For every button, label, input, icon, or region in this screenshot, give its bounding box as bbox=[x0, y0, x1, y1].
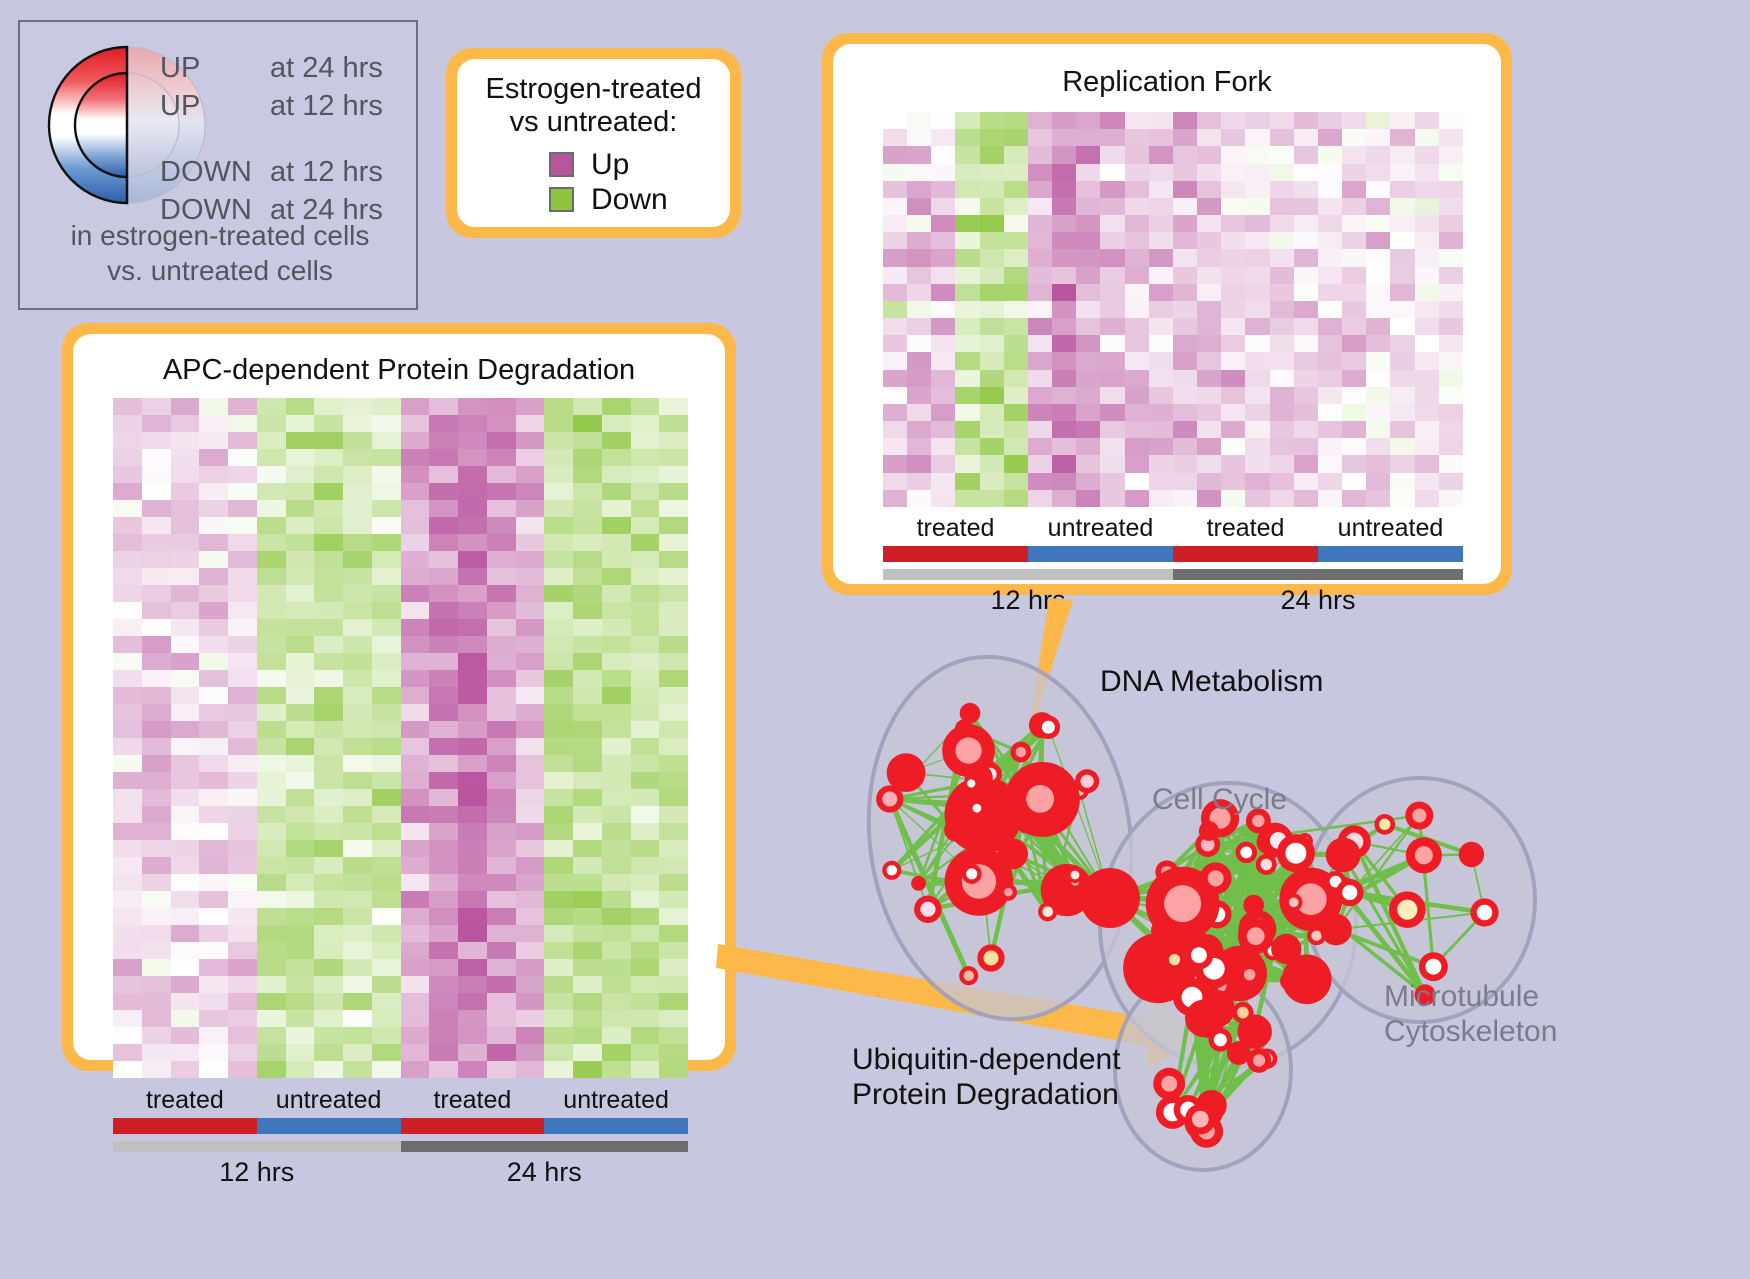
heatmap-cell bbox=[171, 619, 200, 636]
heatmap-cell bbox=[1052, 181, 1076, 198]
heatmap-cell bbox=[1390, 198, 1414, 215]
network-node bbox=[1146, 867, 1220, 941]
heatmap-cell bbox=[429, 840, 458, 857]
network-edge bbox=[1174, 904, 1182, 960]
heatmap-cell bbox=[142, 449, 171, 466]
network-edge bbox=[1192, 845, 1208, 938]
heatmap-cell bbox=[314, 1044, 343, 1061]
network-edge bbox=[983, 815, 1012, 854]
heatmap-cell bbox=[401, 636, 430, 653]
heatmap-cell bbox=[631, 1044, 660, 1061]
heatmap-cell bbox=[1415, 318, 1439, 335]
heatmap-cell bbox=[631, 891, 660, 908]
heatmap-cell bbox=[1221, 146, 1245, 163]
network-node bbox=[1336, 879, 1363, 906]
heatmap-cell bbox=[1076, 267, 1100, 284]
heatmap-cell bbox=[1342, 404, 1366, 421]
network-edge bbox=[1336, 893, 1350, 930]
heatmap-cell bbox=[1125, 198, 1149, 215]
heatmap-cell bbox=[1318, 421, 1342, 438]
heatmap-cell bbox=[1342, 387, 1366, 404]
heatmap-cell bbox=[602, 500, 631, 517]
heatmap-cell bbox=[314, 415, 343, 432]
heatmap-cell bbox=[1076, 301, 1100, 318]
network-node bbox=[997, 839, 1028, 870]
heatmap-cell bbox=[429, 925, 458, 942]
group-bar-treated-24 bbox=[1173, 546, 1318, 562]
heatmap-cell bbox=[314, 653, 343, 670]
network-edge bbox=[1183, 904, 1199, 955]
heatmap-cell bbox=[907, 249, 931, 266]
heatmap-cell bbox=[1076, 455, 1100, 472]
heatmap-cell bbox=[429, 483, 458, 500]
network-node bbox=[990, 817, 1011, 838]
heatmap-cell bbox=[883, 455, 907, 472]
network-edge bbox=[1208, 845, 1273, 952]
heatmap-cell bbox=[931, 284, 955, 301]
network-node-core bbox=[1071, 871, 1080, 880]
heatmap-cell bbox=[257, 687, 286, 704]
heatmap-cell bbox=[429, 1027, 458, 1044]
heatmap-cell bbox=[602, 874, 631, 891]
network-node bbox=[1199, 821, 1219, 841]
heatmap-cell bbox=[429, 653, 458, 670]
network-edge bbox=[1218, 914, 1258, 929]
network-edge bbox=[1167, 864, 1266, 871]
network-edge bbox=[1336, 882, 1408, 910]
heatmap-cell bbox=[883, 215, 907, 232]
network-node bbox=[1005, 762, 1080, 837]
heatmap-cell bbox=[314, 976, 343, 993]
heatmap-cell bbox=[286, 517, 315, 534]
heatmap-cell bbox=[1318, 473, 1342, 490]
heatmap-cell bbox=[931, 352, 955, 369]
heatmap-cell bbox=[1270, 352, 1294, 369]
network-node bbox=[1263, 825, 1294, 856]
heatmap-cell bbox=[1052, 301, 1076, 318]
network-edge bbox=[1219, 899, 1311, 985]
heatmap-cell bbox=[602, 466, 631, 483]
heatmap-cell bbox=[1100, 215, 1124, 232]
heatmap-cell bbox=[1052, 421, 1076, 438]
heatmap-cell bbox=[429, 398, 458, 415]
heatmap-cell bbox=[955, 421, 979, 438]
heatmap-cell bbox=[142, 636, 171, 653]
heatmap-cell bbox=[573, 857, 602, 874]
heatmap-cell bbox=[1270, 318, 1294, 335]
apc-degradation-panel: APC-dependent Protein Degradation treate… bbox=[62, 323, 736, 1071]
network-node bbox=[959, 966, 978, 985]
heatmap-cell bbox=[1173, 146, 1197, 163]
network-node bbox=[1212, 953, 1229, 970]
heatmap-cell bbox=[1245, 318, 1269, 335]
network-edge bbox=[1243, 1013, 1255, 1032]
network-edge bbox=[979, 881, 1009, 892]
heatmap-cell bbox=[1439, 232, 1463, 249]
network-edge bbox=[1246, 852, 1306, 979]
heatmap-cell bbox=[544, 670, 573, 687]
heatmap-cell bbox=[1028, 370, 1052, 387]
network-edge bbox=[1110, 898, 1174, 960]
heatmap-cell bbox=[1052, 232, 1076, 249]
network-edge bbox=[1258, 821, 1306, 979]
heatmap-cell bbox=[372, 772, 401, 789]
heatmap-cell bbox=[1415, 421, 1439, 438]
heatmap-cell bbox=[907, 352, 931, 369]
network-node bbox=[1195, 832, 1220, 857]
heatmap-cell bbox=[659, 483, 688, 500]
heatmap-cell bbox=[314, 772, 343, 789]
heatmap-cell bbox=[631, 874, 660, 891]
heatmap-cell bbox=[199, 704, 228, 721]
heatmap-cell bbox=[372, 925, 401, 942]
heatmap-cell bbox=[1173, 267, 1197, 284]
heatmap-cell bbox=[372, 806, 401, 823]
group-name: untreated bbox=[1318, 514, 1463, 543]
network-edge bbox=[890, 799, 972, 874]
heatmap-cell bbox=[401, 449, 430, 466]
heatmap-cell bbox=[659, 942, 688, 959]
network-edge bbox=[1202, 975, 1249, 1123]
heatmap-cell bbox=[631, 857, 660, 874]
network-node bbox=[1067, 867, 1083, 883]
heatmap-cell bbox=[199, 432, 228, 449]
network-node-core bbox=[1315, 893, 1329, 907]
network-node bbox=[1209, 1028, 1233, 1052]
heatmap-cell bbox=[516, 772, 545, 789]
network-edge bbox=[1203, 855, 1423, 980]
heatmap-cell bbox=[113, 670, 142, 687]
network-edge bbox=[1206, 905, 1254, 951]
heatmap-cell bbox=[544, 823, 573, 840]
heatmap-cell bbox=[1197, 490, 1221, 507]
heatmap-cell bbox=[955, 352, 979, 369]
heatmap-cell bbox=[573, 823, 602, 840]
heatmap-cell bbox=[631, 806, 660, 823]
heatmap-cell bbox=[516, 466, 545, 483]
heatmap-cell bbox=[516, 619, 545, 636]
heatmap-cell bbox=[487, 840, 516, 857]
heatmap-cell bbox=[1028, 146, 1052, 163]
heatmap-cell bbox=[1028, 421, 1052, 438]
heatmap-cell bbox=[199, 483, 228, 500]
heatmap-cell bbox=[372, 500, 401, 517]
heatmap-cell bbox=[602, 857, 631, 874]
network-edge bbox=[1000, 828, 1008, 892]
heatmap-cell bbox=[199, 1044, 228, 1061]
heatmap-cell bbox=[142, 976, 171, 993]
heatmap-cell bbox=[631, 993, 660, 1010]
heatmap-cell bbox=[228, 602, 257, 619]
network-edge bbox=[1192, 937, 1286, 949]
heatmap-cell bbox=[228, 1044, 257, 1061]
heatmap-cell bbox=[1415, 112, 1439, 129]
network-edge bbox=[1209, 831, 1221, 961]
heatmap-cell bbox=[171, 517, 200, 534]
network-node bbox=[1151, 921, 1169, 939]
network-node bbox=[1155, 860, 1178, 883]
network-node bbox=[1187, 964, 1221, 998]
heatmap-cell bbox=[142, 466, 171, 483]
heatmap-cell bbox=[907, 421, 931, 438]
heatmap-cell bbox=[458, 1061, 487, 1078]
heatmap-cell bbox=[1270, 215, 1294, 232]
network-node bbox=[1029, 712, 1055, 738]
heatmap-cell bbox=[343, 415, 372, 432]
network-edge bbox=[969, 751, 991, 958]
heatmap-cell bbox=[544, 1061, 573, 1078]
network-node-core bbox=[1080, 775, 1093, 788]
heatmap-cell bbox=[516, 432, 545, 449]
heatmap-cell bbox=[659, 500, 688, 517]
network-edge bbox=[1221, 951, 1273, 961]
network-node-core bbox=[1214, 1033, 1227, 1046]
heatmap-cell bbox=[516, 398, 545, 415]
heatmap-cell bbox=[343, 585, 372, 602]
heatmap-cell bbox=[401, 1061, 430, 1078]
heatmap-cell bbox=[199, 1027, 228, 1044]
heatmap-cell bbox=[343, 1061, 372, 1078]
network-node-core bbox=[887, 865, 897, 875]
heatmap-cell bbox=[171, 670, 200, 687]
network-node bbox=[887, 753, 926, 792]
heatmap-cell bbox=[458, 959, 487, 976]
network-edge bbox=[1040, 799, 1048, 912]
heatmap-cell bbox=[113, 551, 142, 568]
heatmap-cell bbox=[257, 1027, 286, 1044]
time-label: 12 hrs bbox=[883, 585, 1173, 616]
heatmap-cell bbox=[1197, 438, 1221, 455]
heatmap-cell bbox=[314, 840, 343, 857]
heatmap-cell bbox=[1052, 352, 1076, 369]
network-edge bbox=[1000, 799, 1040, 828]
network-node bbox=[1326, 838, 1361, 873]
network-edge bbox=[1163, 913, 1199, 955]
network-node-core bbox=[962, 864, 996, 898]
heatmap-cell bbox=[1270, 164, 1294, 181]
heatmap-cell bbox=[544, 619, 573, 636]
heatmap-cell bbox=[1028, 404, 1052, 421]
heatmap-cell bbox=[429, 670, 458, 687]
heatmap-cell bbox=[257, 806, 286, 823]
heatmap-cell bbox=[1439, 215, 1463, 232]
heatmap-cell bbox=[171, 976, 200, 993]
heatmap-cell bbox=[1270, 301, 1294, 318]
network-edge bbox=[1192, 937, 1206, 951]
heatmap-cell bbox=[602, 942, 631, 959]
network-edge bbox=[1209, 831, 1311, 899]
heatmap-cell bbox=[171, 823, 200, 840]
network-node-core bbox=[1244, 969, 1255, 980]
heatmap-cell bbox=[142, 891, 171, 908]
heatmap-cell bbox=[286, 1027, 315, 1044]
heatmap-cell bbox=[659, 687, 688, 704]
heatmap-cell bbox=[458, 653, 487, 670]
heatmap-cell bbox=[602, 670, 631, 687]
network-node bbox=[1277, 834, 1315, 872]
network-node bbox=[1232, 1002, 1253, 1023]
heatmap-cell bbox=[1149, 284, 1173, 301]
heatmap-cell bbox=[1028, 387, 1052, 404]
heatmap-cell bbox=[883, 112, 907, 129]
heatmap-cell bbox=[659, 789, 688, 806]
cluster-label-cell-cycle: Cell Cycle bbox=[1152, 783, 1287, 818]
heatmap-cell bbox=[659, 874, 688, 891]
network-edge bbox=[983, 815, 1026, 822]
heatmap-cell bbox=[142, 704, 171, 721]
heatmap-cell bbox=[487, 874, 516, 891]
network-edge bbox=[1343, 824, 1385, 855]
heatmap-cell bbox=[199, 687, 228, 704]
heatmap-cell bbox=[113, 653, 142, 670]
heatmap-cell bbox=[980, 301, 1004, 318]
heatmap-cell bbox=[401, 534, 430, 551]
heatmap-cell bbox=[516, 823, 545, 840]
heatmap-cell bbox=[314, 942, 343, 959]
group-bar-untreated-12 bbox=[257, 1118, 401, 1134]
heatmap-cell bbox=[429, 517, 458, 534]
heatmap-cell bbox=[142, 1061, 171, 1078]
network-edge bbox=[977, 769, 984, 809]
heatmap-cell bbox=[228, 398, 257, 415]
heatmap-cell bbox=[1197, 215, 1221, 232]
heatmap-cell bbox=[1221, 370, 1245, 387]
apc-time-names: 12 hrs 24 hrs bbox=[113, 1157, 688, 1188]
heatmap-cell bbox=[429, 772, 458, 789]
heatmap-cell bbox=[573, 1027, 602, 1044]
network-edge bbox=[1183, 904, 1250, 975]
heatmap-cell bbox=[573, 466, 602, 483]
heatmap-cell bbox=[907, 181, 931, 198]
heatmap-cell bbox=[286, 993, 315, 1010]
network-edge bbox=[1218, 914, 1250, 974]
heatmap-cell bbox=[602, 823, 631, 840]
network-node-core bbox=[1161, 866, 1173, 878]
network-node bbox=[1203, 900, 1231, 928]
heatmap-cell bbox=[1173, 490, 1197, 507]
heatmap-cell bbox=[1439, 267, 1463, 284]
heatmap-cell bbox=[286, 738, 315, 755]
heatmap-cell bbox=[401, 670, 430, 687]
network-node-core bbox=[1240, 846, 1252, 858]
heatmap-cell bbox=[487, 704, 516, 721]
network-edge bbox=[1211, 1040, 1220, 1106]
heatmap-cell bbox=[487, 466, 516, 483]
heatmap-cell bbox=[1028, 352, 1052, 369]
heatmap-cell bbox=[113, 721, 142, 738]
legend-value: at 24 hrs bbox=[270, 52, 383, 85]
heatmap-cell bbox=[372, 959, 401, 976]
heatmap-cell bbox=[343, 789, 372, 806]
heatmap-cell bbox=[343, 517, 372, 534]
heatmap-cell bbox=[1076, 164, 1100, 181]
heatmap-cell bbox=[1052, 112, 1076, 129]
heatmap-cell bbox=[1270, 455, 1294, 472]
heatmap-cell bbox=[1245, 455, 1269, 472]
network-edge bbox=[1206, 899, 1311, 951]
heatmap-cell bbox=[314, 1061, 343, 1078]
network-node-core bbox=[1425, 959, 1441, 975]
heatmap-cell bbox=[401, 908, 430, 925]
heatmap-cell bbox=[171, 551, 200, 568]
heatmap-cell bbox=[113, 449, 142, 466]
heatmap-cell bbox=[1100, 249, 1124, 266]
network-edge bbox=[1021, 752, 1110, 898]
network-edge bbox=[990, 774, 1110, 898]
heatmap-cell bbox=[286, 976, 315, 993]
heatmap-cell bbox=[458, 483, 487, 500]
heatmap-cell bbox=[1125, 404, 1149, 421]
network-edge bbox=[991, 805, 1026, 958]
heatmap-cell bbox=[602, 840, 631, 857]
heatmap-cell bbox=[1245, 249, 1269, 266]
heatmap-cell bbox=[1149, 438, 1173, 455]
heatmap-cell bbox=[487, 755, 516, 772]
network-edge bbox=[928, 881, 979, 909]
heatmap-cell bbox=[1125, 318, 1149, 335]
heatmap-cell bbox=[955, 232, 979, 249]
network-edge bbox=[1275, 840, 1316, 936]
heatmap-cell bbox=[257, 1044, 286, 1061]
heatmap-cell bbox=[1439, 438, 1463, 455]
network-node bbox=[882, 861, 901, 880]
heatmap-cell bbox=[199, 857, 228, 874]
heatmap-cell bbox=[228, 483, 257, 500]
network-node bbox=[1419, 952, 1448, 981]
heatmap-cell bbox=[228, 976, 257, 993]
heatmap-cell bbox=[1366, 421, 1390, 438]
heatmap-cell bbox=[1052, 284, 1076, 301]
heatmap-cell bbox=[401, 925, 430, 942]
heatmap-cell bbox=[1028, 455, 1052, 472]
heatmap-cell bbox=[602, 721, 631, 738]
heatmap-cell bbox=[955, 473, 979, 490]
heatmap-cell bbox=[1439, 129, 1463, 146]
heatmap-cell bbox=[631, 670, 660, 687]
heatmap-cell bbox=[401, 500, 430, 517]
heatmap-cell bbox=[573, 483, 602, 500]
heatmap-cell bbox=[372, 823, 401, 840]
heatmap-cell bbox=[1028, 164, 1052, 181]
heatmap-cell bbox=[228, 942, 257, 959]
heatmap-cell bbox=[257, 908, 286, 925]
heatmap-cell bbox=[372, 534, 401, 551]
heatmap-cell bbox=[1318, 112, 1342, 129]
heatmap-cell bbox=[343, 976, 372, 993]
heatmap-cell bbox=[631, 959, 660, 976]
heatmap-cell bbox=[573, 925, 602, 942]
heatmap-cell bbox=[544, 602, 573, 619]
heatmap-cell bbox=[907, 232, 931, 249]
heatmap-cell bbox=[1197, 370, 1221, 387]
network-edge bbox=[1110, 898, 1257, 929]
heatmap-cell bbox=[931, 215, 955, 232]
heatmap-cell bbox=[931, 318, 955, 335]
heatmap-cell bbox=[343, 738, 372, 755]
network-node bbox=[962, 864, 982, 884]
heatmap-cell bbox=[142, 993, 171, 1010]
heatmap-cell bbox=[573, 874, 602, 891]
heatmap-cell bbox=[429, 602, 458, 619]
network-edge bbox=[1207, 1032, 1255, 1132]
heatmap-cell bbox=[573, 891, 602, 908]
heatmap-cell bbox=[1197, 473, 1221, 490]
heatmap-cell bbox=[1390, 284, 1414, 301]
network-edge bbox=[1254, 905, 1317, 936]
heatmap-cell bbox=[1366, 404, 1390, 421]
heatmap-cell bbox=[980, 232, 1004, 249]
heatmap-cell bbox=[1028, 438, 1052, 455]
